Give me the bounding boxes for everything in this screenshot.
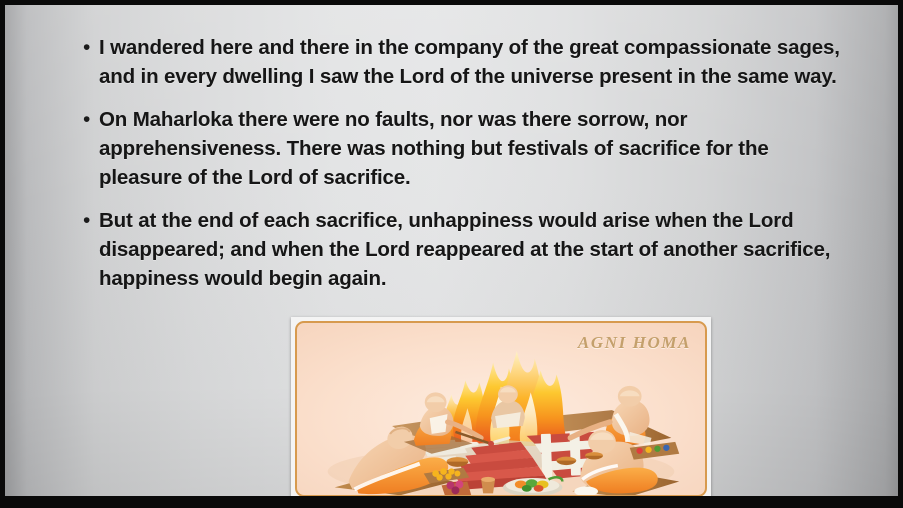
bullet-marker-icon: • xyxy=(83,206,99,235)
list-item: • I wandered here and there in the compa… xyxy=(83,33,853,91)
bullet-text: On Maharloka there were no faults, nor w… xyxy=(99,105,853,192)
agni-homa-caption: AGNI HOMA xyxy=(578,333,691,353)
bullet-text: But at the end of each sacrifice, unhapp… xyxy=(99,206,853,293)
agni-homa-picture: AGNI HOMA xyxy=(291,317,711,496)
picture-inner-border: AGNI HOMA xyxy=(295,321,707,496)
slide-bullet-list: • I wandered here and there in the compa… xyxy=(83,33,853,307)
bullet-text: I wandered here and there in the company… xyxy=(99,33,853,91)
presentation-slide: • I wandered here and there in the compa… xyxy=(5,5,898,496)
bullet-marker-icon: • xyxy=(83,33,99,62)
video-player-frame: • I wandered here and there in the compa… xyxy=(0,0,903,508)
bullet-marker-icon: • xyxy=(83,105,99,134)
list-item: • On Maharloka there were no faults, nor… xyxy=(83,105,853,192)
list-item: • But at the end of each sacrifice, unha… xyxy=(83,206,853,293)
